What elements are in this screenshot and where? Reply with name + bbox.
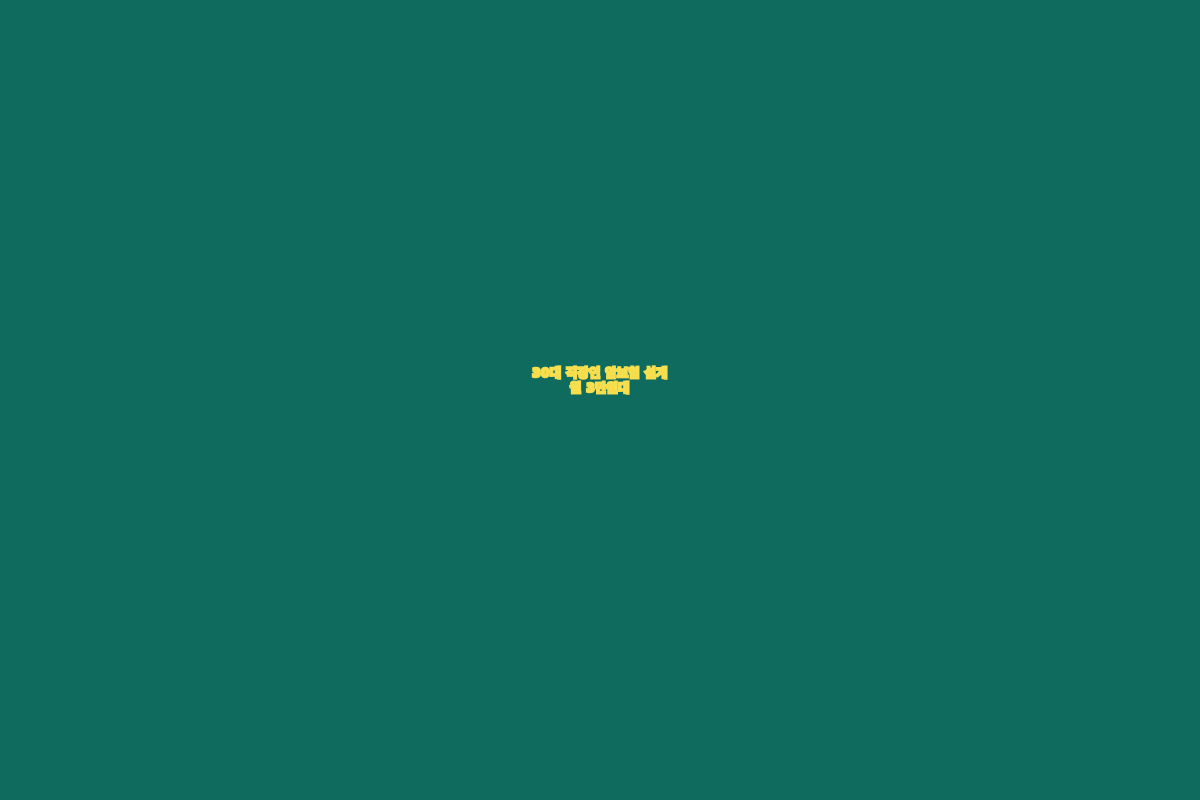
headline-line-2: 월 3만원대 (40, 381, 1160, 396)
headline-line-1: 30대 직장인 암보험 설계 (40, 366, 1160, 381)
headline-block: 30대 직장인 암보험 설계 월 3만원대 (0, 366, 1200, 397)
promo-card: 30대 직장인 암보험 설계 월 3만원대 (0, 0, 1200, 800)
